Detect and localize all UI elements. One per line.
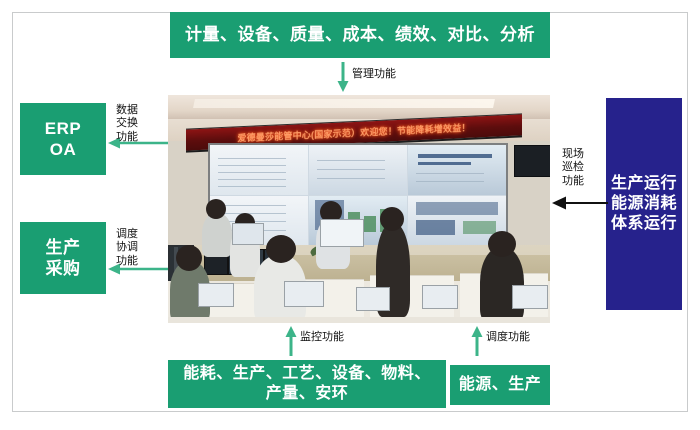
box-erp-oa-line2: OA — [50, 140, 77, 159]
box-energy-production-scope: 能耗、生产、工艺、设备、物料、 产量、安环 — [168, 360, 446, 408]
photo-laptop — [512, 285, 548, 309]
box-energy-production-scope-line2: 产量、安环 — [266, 385, 349, 402]
control-room-photo: 爱德曼莎能管中心(国家示范）欢迎您！节能降耗增效益！ — [168, 95, 550, 323]
arrow-field-inspection-function — [552, 196, 608, 210]
photo-person — [202, 213, 232, 257]
arrow-management-function — [336, 62, 350, 92]
box-production-purchase: 生产 采购 — [20, 222, 106, 294]
arrow-label-management-function: 管理功能 — [352, 68, 396, 81]
box-production-energy-line1: 生产运行 — [611, 175, 677, 192]
photo-laptop — [356, 287, 390, 311]
arrow-label-monitoring-function: 监控功能 — [300, 331, 344, 344]
video-wall-cell — [408, 145, 506, 195]
video-wall-cell — [309, 145, 407, 195]
photo-person-head — [206, 199, 226, 219]
arrow-monitoring-function — [284, 326, 298, 356]
photo-monitor — [320, 219, 364, 247]
box-erp-oa: ERP OA — [20, 103, 106, 175]
box-production-purchase-text: 生产 采购 — [46, 237, 81, 280]
photo-person-head — [488, 231, 516, 257]
box-energy-production-scope-line1: 能耗、生产、工艺、设备、物料、 — [183, 365, 431, 382]
photo-floor — [168, 317, 550, 323]
photo-led-banner-text: 爱德曼莎能管中心(国家示范）欢迎您！节能降耗增效益！ — [237, 121, 470, 145]
box-energy-production-label: 能源、生产 — [459, 375, 542, 395]
box-production-energy-line2: 能源消耗 — [611, 195, 677, 212]
box-erp-oa-text: ERP OA — [45, 118, 81, 161]
top-function-bar: 计量、设备、质量、成本、绩效、对比、分析 — [170, 12, 550, 58]
arrow-dispatch-function — [470, 326, 484, 356]
photo-person-head — [380, 207, 404, 231]
arrow-label-data-exchange-function: 数据 交换 功能 — [116, 104, 138, 144]
arrow-label-scheduling-coordination-function: 调度 协调 功能 — [116, 228, 138, 268]
box-production-purchase-line1: 生产 — [46, 238, 81, 257]
box-production-purchase-line2: 采购 — [46, 259, 81, 278]
box-production-energy-text: 生产运行 能源消耗 体系运行 — [611, 174, 677, 234]
photo-ceiling-light — [193, 99, 495, 108]
top-function-bar-label: 计量、设备、质量、成本、绩效、对比、分析 — [185, 24, 535, 45]
photo-wall-monitor — [514, 145, 550, 177]
photo-person-head — [176, 245, 202, 271]
box-production-energy-line3: 体系运行 — [611, 215, 677, 232]
arrow-label-dispatch-function: 调度功能 — [486, 331, 530, 344]
video-wall-cell — [210, 145, 308, 195]
diagram-canvas: 计量、设备、质量、成本、绩效、对比、分析 管理功能 ERP OA 数据 交换 功… — [0, 0, 700, 430]
photo-laptop — [284, 281, 324, 307]
photo-person-head — [266, 235, 296, 263]
photo-laptop — [422, 285, 458, 309]
box-production-energy: 生产运行 能源消耗 体系运行 — [606, 98, 682, 310]
photo-laptop — [198, 283, 234, 307]
box-energy-production: 能源、生产 — [450, 365, 550, 405]
box-erp-oa-line1: ERP — [45, 119, 81, 138]
arrow-label-field-inspection-function: 现场 巡检 功能 — [562, 148, 584, 188]
photo-monitor — [232, 223, 264, 245]
box-energy-production-scope-text: 能耗、生产、工艺、设备、物料、 产量、安环 — [183, 364, 431, 404]
